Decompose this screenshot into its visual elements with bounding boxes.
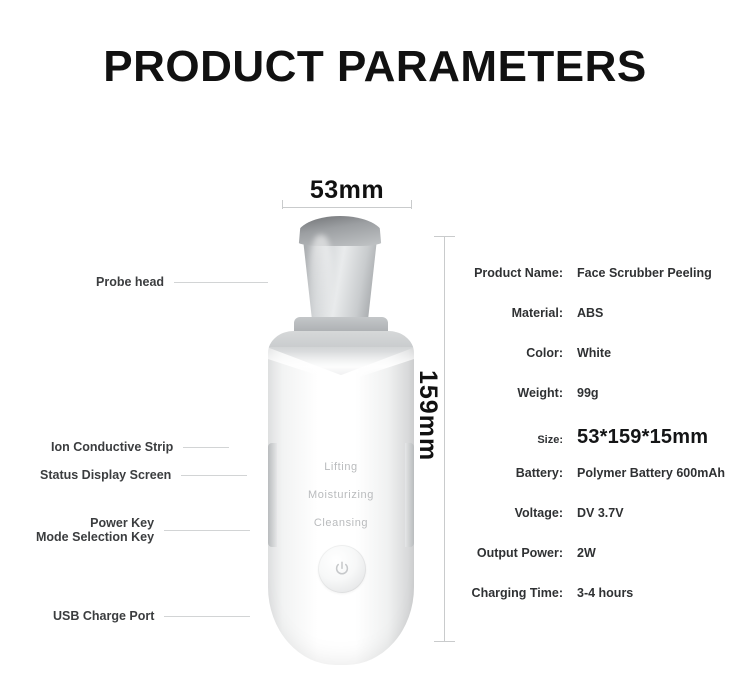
probe-head-highlight [310, 235, 332, 321]
callout-usb-charge-port-label: USB Charge Port [53, 609, 154, 623]
callout-probe-head: Probe head [96, 275, 268, 289]
spec-row-charging-time: Charging Time: 3-4 hours [466, 586, 725, 626]
spec-label-product-name: Product Name: [466, 266, 563, 280]
spec-label-battery: Battery: [466, 466, 563, 480]
spec-label-charging-time: Charging Time: [466, 586, 563, 600]
probe-head-tip [296, 216, 384, 246]
power-icon [333, 560, 351, 578]
callout-power-mode-key-line [164, 530, 250, 531]
spec-value-material: ABS [577, 306, 603, 320]
dimension-width-label: 53mm [282, 176, 412, 205]
spec-row-output-power: Output Power: 2W [466, 546, 725, 586]
callout-usb-charge-port-line [164, 616, 250, 617]
callout-ion-conductive-strip: Ion Conductive Strip [51, 440, 229, 454]
callout-probe-head-label: Probe head [96, 275, 164, 289]
specification-table: Product Name: Face Scrubber Peeling Mate… [466, 266, 725, 626]
spec-label-material: Material: [466, 306, 563, 320]
callout-ion-conductive-strip-label: Ion Conductive Strip [51, 440, 173, 454]
spec-label-color: Color: [466, 346, 563, 360]
callout-power-mode-key-label: Power Key Mode Selection Key [36, 516, 154, 544]
spec-label-voltage: Voltage: [466, 506, 563, 520]
callout-power-mode-key: Power Key Mode Selection Key [36, 516, 250, 544]
spec-value-battery: Polymer Battery 600mAh [577, 466, 725, 480]
spec-value-output-power: 2W [577, 546, 596, 560]
spec-value-voltage: DV 3.7V [577, 506, 624, 520]
spec-row-material: Material: ABS [466, 306, 725, 346]
device-illustration: Lifting Moisturizing Cleansing [250, 205, 450, 670]
spec-value-charging-time: 3-4 hours [577, 586, 633, 600]
product-parameters-page: PRODUCT PARAMETERS 53mm 159mm Lifting Mo… [0, 0, 750, 682]
spec-row-weight: Weight: 99g [466, 386, 725, 426]
spec-value-color: White [577, 346, 611, 360]
callout-ion-conductive-strip-line [183, 447, 229, 448]
power-button [318, 545, 366, 593]
page-title: PRODUCT PARAMETERS [0, 42, 750, 92]
spec-row-product-name: Product Name: Face Scrubber Peeling [466, 266, 725, 306]
spec-value-product-name: Face Scrubber Peeling [577, 266, 712, 280]
spec-row-battery: Battery: Polymer Battery 600mAh [466, 466, 725, 506]
spec-label-size: Size: [466, 434, 563, 446]
spec-row-color: Color: White [466, 346, 725, 386]
spec-value-size: 53*159*15mm [577, 426, 708, 449]
device-mode-label-moisturizing: Moisturizing [268, 489, 414, 501]
spec-row-voltage: Voltage: DV 3.7V [466, 506, 725, 546]
device-mode-label-lifting: Lifting [268, 461, 414, 473]
spec-row-size: Size: 53*159*15mm [466, 426, 725, 466]
spec-label-weight: Weight: [466, 386, 563, 400]
callout-status-display-screen: Status Display Screen [40, 468, 247, 482]
callout-probe-head-line [174, 282, 268, 283]
spec-value-weight: 99g [577, 386, 599, 400]
callout-status-display-screen-line [181, 475, 247, 476]
device-mode-label-cleansing: Cleansing [268, 517, 414, 529]
spec-label-output-power: Output Power: [466, 546, 563, 560]
callout-status-display-screen-label: Status Display Screen [40, 468, 171, 482]
callout-usb-charge-port: USB Charge Port [53, 609, 250, 623]
